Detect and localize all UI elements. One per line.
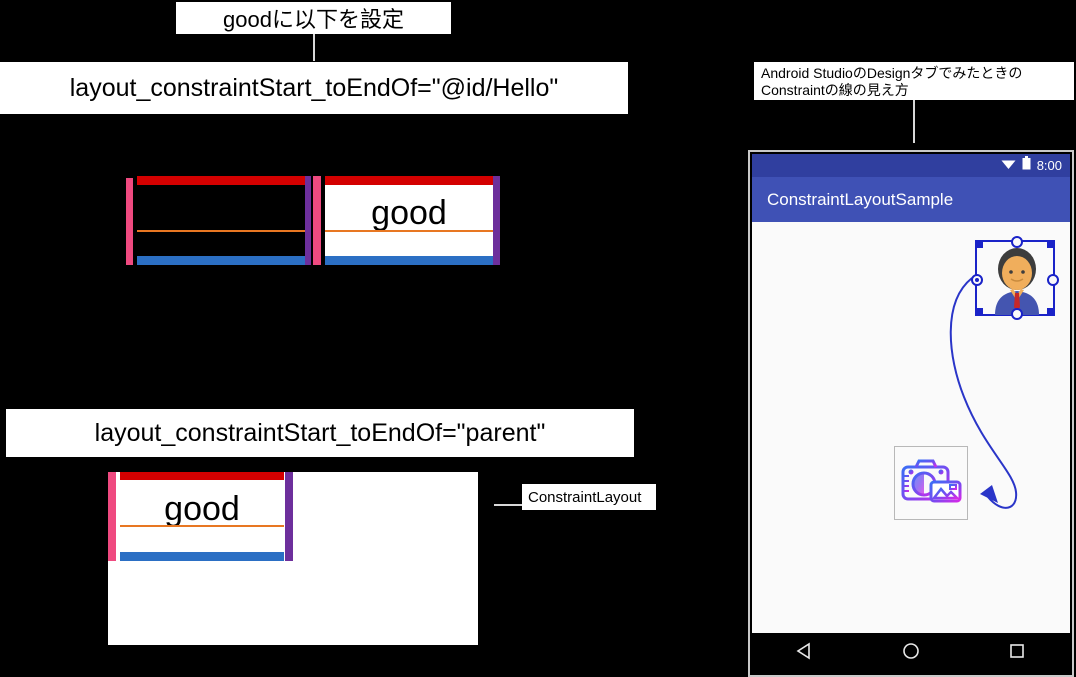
phone-app-toolbar: ConstraintLayoutSample: [752, 177, 1070, 222]
widget-hello-baseline: [137, 230, 308, 232]
person-icon: [981, 245, 1053, 315]
widget-hello-bottom-edge: [137, 256, 308, 265]
widget-good-2-label: good: [120, 490, 284, 529]
widget-good-2-baseline: [120, 525, 284, 527]
wifi-icon: [1001, 157, 1016, 175]
widget-good-2-end-edge: [285, 472, 293, 561]
handle-bottom-right[interactable]: [1047, 308, 1055, 316]
section-2-banner: layout_constraintStart_toEndOf="parent": [6, 409, 634, 457]
widget-good-1-bottom-edge: [325, 256, 493, 265]
widget-good-2: good: [120, 472, 284, 561]
widget-good-1-baseline: [325, 230, 493, 232]
phone-status-bar: 8:00: [752, 154, 1070, 177]
widget-hello-end-edge: [305, 176, 311, 265]
anchor-bottom[interactable]: [1011, 308, 1023, 320]
diagram-canvas: goodに以下を設定 layout_constraintStart_toEndO…: [0, 0, 1076, 677]
widget-good-1-start-edge: [313, 176, 321, 265]
top-note-callout: goodに以下を設定: [176, 2, 451, 34]
design-note-callout: Android StudioのDesignタブでみたときの Constraint…: [754, 62, 1074, 100]
widget-good-1-top-edge: [325, 176, 493, 185]
section-1-banner: layout_constraintStart_toEndOf="@id/Hell…: [0, 62, 628, 114]
design-note-leader: [913, 100, 915, 143]
widget-good-2-start-edge: [108, 472, 116, 561]
widget-good-1-label: good: [325, 194, 493, 233]
widget-good-1-end-edge: [493, 176, 500, 265]
back-triangle-icon[interactable]: [796, 642, 814, 665]
widget-good-2-bottom-edge: [120, 552, 284, 561]
widget-good-2-top-edge: [120, 472, 284, 480]
widget-hello: [126, 176, 308, 265]
handle-top-right[interactable]: [1047, 240, 1055, 248]
recents-square-icon[interactable]: [1008, 642, 1026, 665]
anchor-top[interactable]: [1011, 236, 1023, 248]
battery-icon: [1022, 156, 1031, 175]
top-note-leader: [313, 34, 315, 61]
app-title: ConstraintLayoutSample: [752, 190, 953, 210]
widget-hello-top-edge: [137, 176, 308, 185]
constraintlayout-note: ConstraintLayout: [522, 484, 656, 510]
handle-bottom-left[interactable]: [975, 308, 983, 316]
camera-image-view[interactable]: [894, 446, 968, 520]
phone-nav-bar: [752, 633, 1070, 673]
anchor-start[interactable]: [971, 274, 983, 286]
camera-icon: [901, 456, 963, 512]
anchor-end[interactable]: [1047, 274, 1059, 286]
widget-good-1: good: [325, 176, 493, 265]
home-circle-icon[interactable]: [902, 642, 920, 665]
status-clock: 8:00: [1037, 158, 1062, 173]
handle-top-left[interactable]: [975, 240, 983, 248]
widget-hello-start-edge: [126, 178, 133, 265]
phone-mockup: 8:00 ConstraintLayoutSample: [748, 150, 1074, 677]
design-surface: [752, 222, 1070, 635]
person-image-view[interactable]: [975, 240, 1055, 316]
